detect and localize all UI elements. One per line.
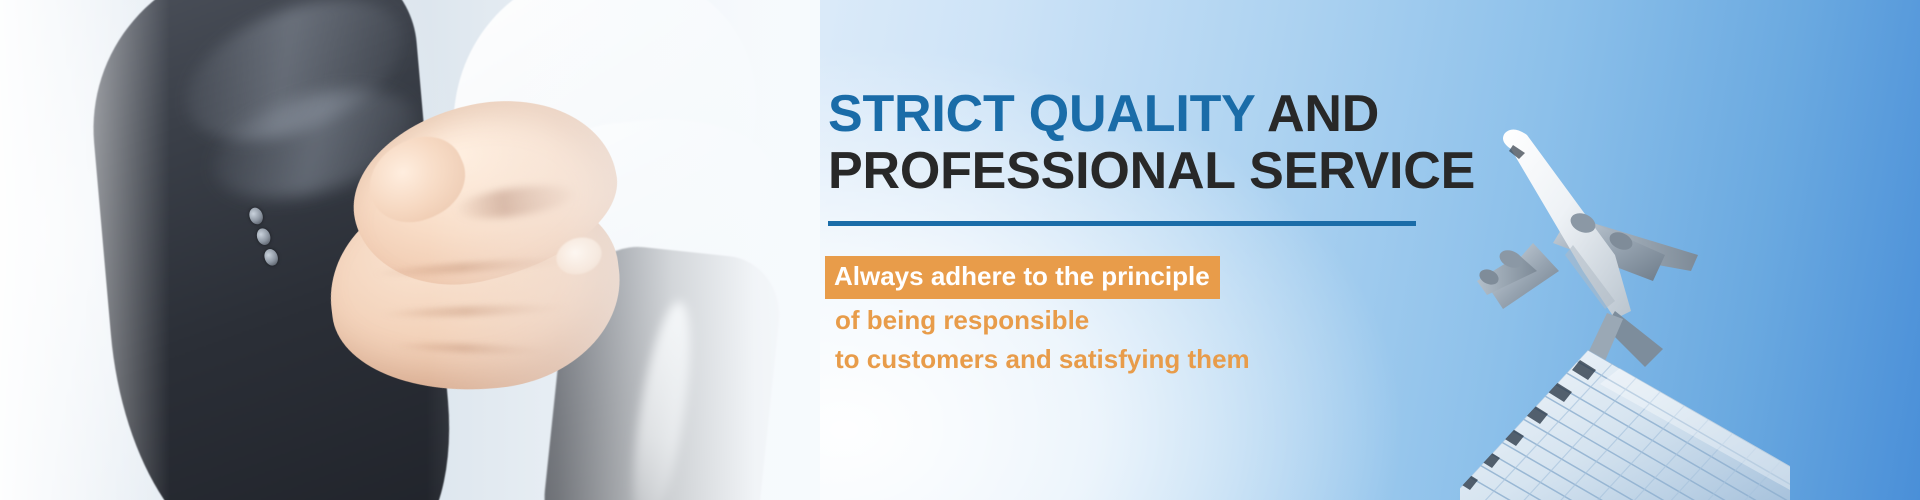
banner-content: STRICT QUALITY AND PROFESSIONAL SERVICE … [828, 86, 1468, 376]
subtitle-block: Always adhere to the principle of being … [828, 256, 1468, 376]
airplane-icon [1455, 105, 1755, 375]
subtitle-line-2: of being responsible [828, 303, 1468, 338]
subtitle-line-3: to customers and satisfying them [828, 342, 1468, 377]
promo-banner: STRICT QUALITY AND PROFESSIONAL SERVICE … [0, 0, 1920, 500]
headline-line-2: PROFESSIONAL SERVICE [828, 142, 1475, 200]
handshake-photo [0, 0, 820, 500]
photo-edge-fade [0, 0, 820, 500]
title-divider [828, 221, 1416, 226]
subtitle-line-1: Always adhere to the principle [825, 256, 1220, 299]
skyscraper-building [1460, 338, 1790, 500]
headline-rest: AND [1255, 85, 1379, 143]
headline-accent: STRICT QUALITY [828, 85, 1255, 143]
page-title: STRICT QUALITY AND PROFESSIONAL SERVICE [828, 86, 1468, 199]
